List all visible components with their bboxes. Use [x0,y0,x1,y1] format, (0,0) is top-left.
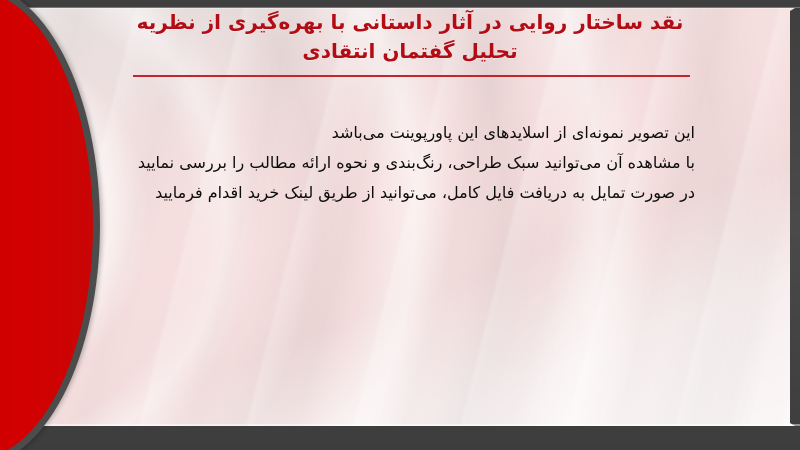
body-text-line-3: در صورت تمایل به دریافت فایل کامل، می‌تو… [75,178,695,208]
slide-title-line-2: تحلیل گفتمان انتقادی [120,37,700,66]
presentation-slide: نقد ساختار روایی در آثار داستانی با بهره… [0,0,800,450]
slide-title-line-1: نقد ساختار روایی در آثار داستانی با بهره… [120,8,700,37]
body-text-line-2: با مشاهده آن می‌توانید سبک طراحی، رنگ‌بن… [75,148,695,178]
panel-gradient-bands [0,8,800,426]
title-divider-rule [133,75,690,77]
slide-title: نقد ساختار روایی در آثار داستانی با بهره… [120,8,700,66]
slide-body-text: این تصویر نمونه‌ای از اسلایدهای این پاور… [75,118,695,208]
body-text-line-1: این تصویر نمونه‌ای از اسلایدهای این پاور… [75,118,695,148]
panel-bottom-edge [0,424,800,426]
slide-content-panel [0,8,800,426]
